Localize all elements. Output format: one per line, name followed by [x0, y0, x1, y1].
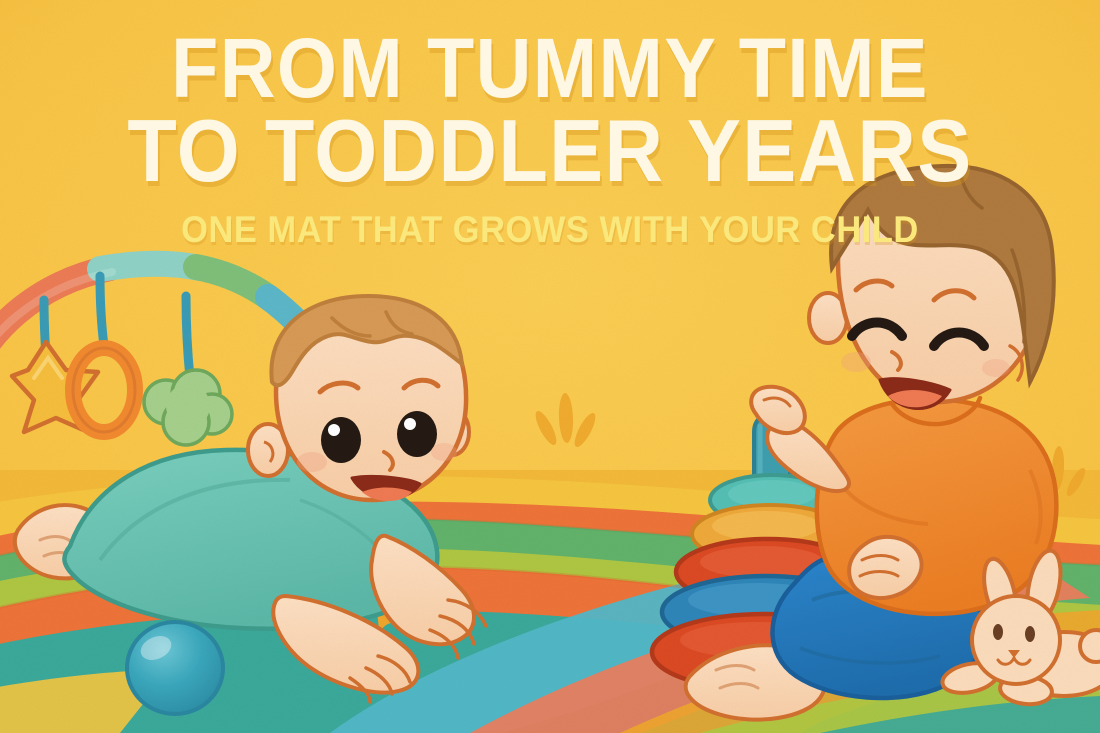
promo-banner: FROM TUMMY TIME TO TODDLER YEARS ONE MAT… [0, 0, 1100, 733]
texture-overlay [0, 0, 1100, 733]
